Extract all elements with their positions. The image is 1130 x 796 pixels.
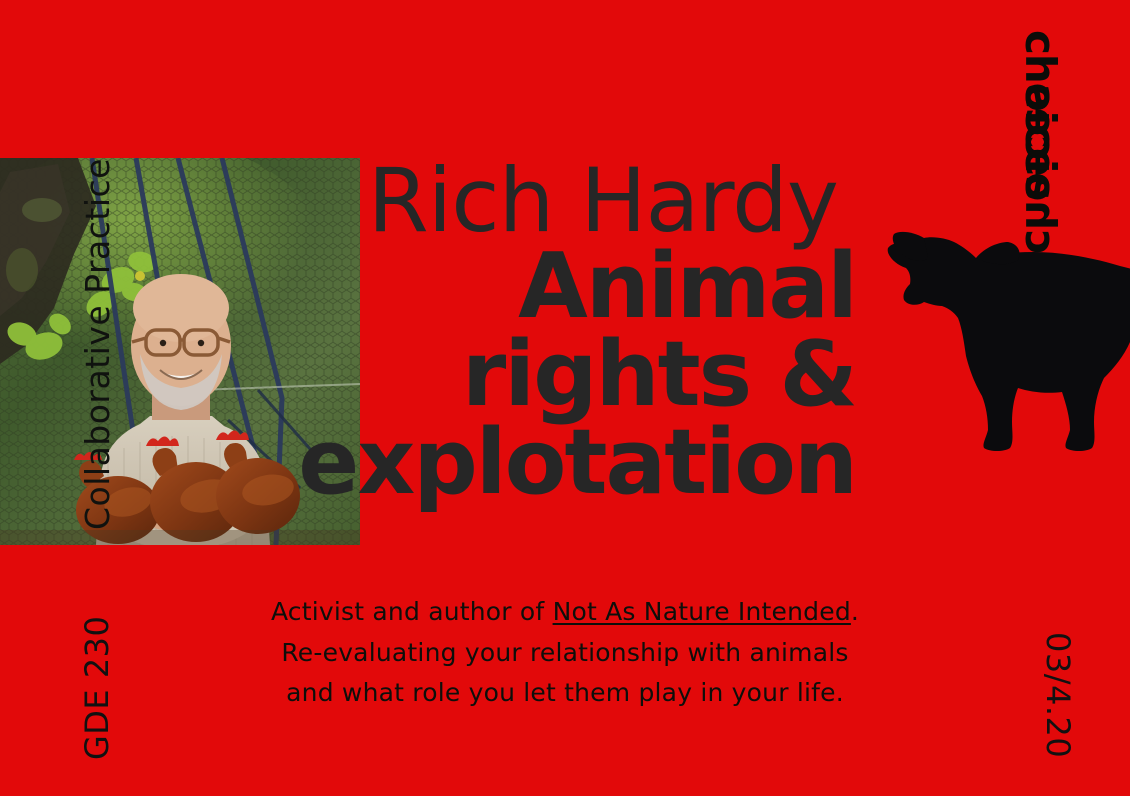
- event-poster: choices choices Collaborative Practice G…: [0, 0, 1130, 796]
- talk-description-line-1: Activist and author of Not As Nature Int…: [0, 592, 1130, 633]
- talk-title-line-2: rights &: [0, 331, 856, 419]
- talk-description-line-3: and what role you let them play in your …: [0, 673, 1130, 714]
- speaker-name: Rich Hardy: [0, 160, 860, 243]
- date-label: 03/4.20: [1039, 632, 1077, 758]
- book-title: Not As Nature Intended: [553, 597, 851, 626]
- talk-title-line-1: Animal: [0, 243, 856, 331]
- course-code-label: GDE 230: [78, 616, 116, 760]
- talk-title-line-3: explotation: [0, 419, 856, 507]
- cow-silhouette-icon: [880, 222, 1130, 454]
- description-prefix: Activist and author of: [271, 597, 553, 626]
- choices-logo: choices choices: [1032, 28, 1098, 198]
- talk-title: Animal rights & explotation: [0, 243, 860, 508]
- choices-logo-word-mirrored: choices: [1032, 86, 1098, 256]
- course-strand-label: Collaborative Practice: [78, 158, 117, 530]
- talk-description-line-2: Re-evaluating your relationship with ani…: [0, 633, 1130, 674]
- description-suffix: .: [851, 597, 859, 626]
- title-block: Rich Hardy Animal rights & explotation: [0, 160, 860, 507]
- talk-description: Activist and author of Not As Nature Int…: [0, 592, 1130, 714]
- choices-logo-text-mirrored: choices: [1016, 85, 1065, 254]
